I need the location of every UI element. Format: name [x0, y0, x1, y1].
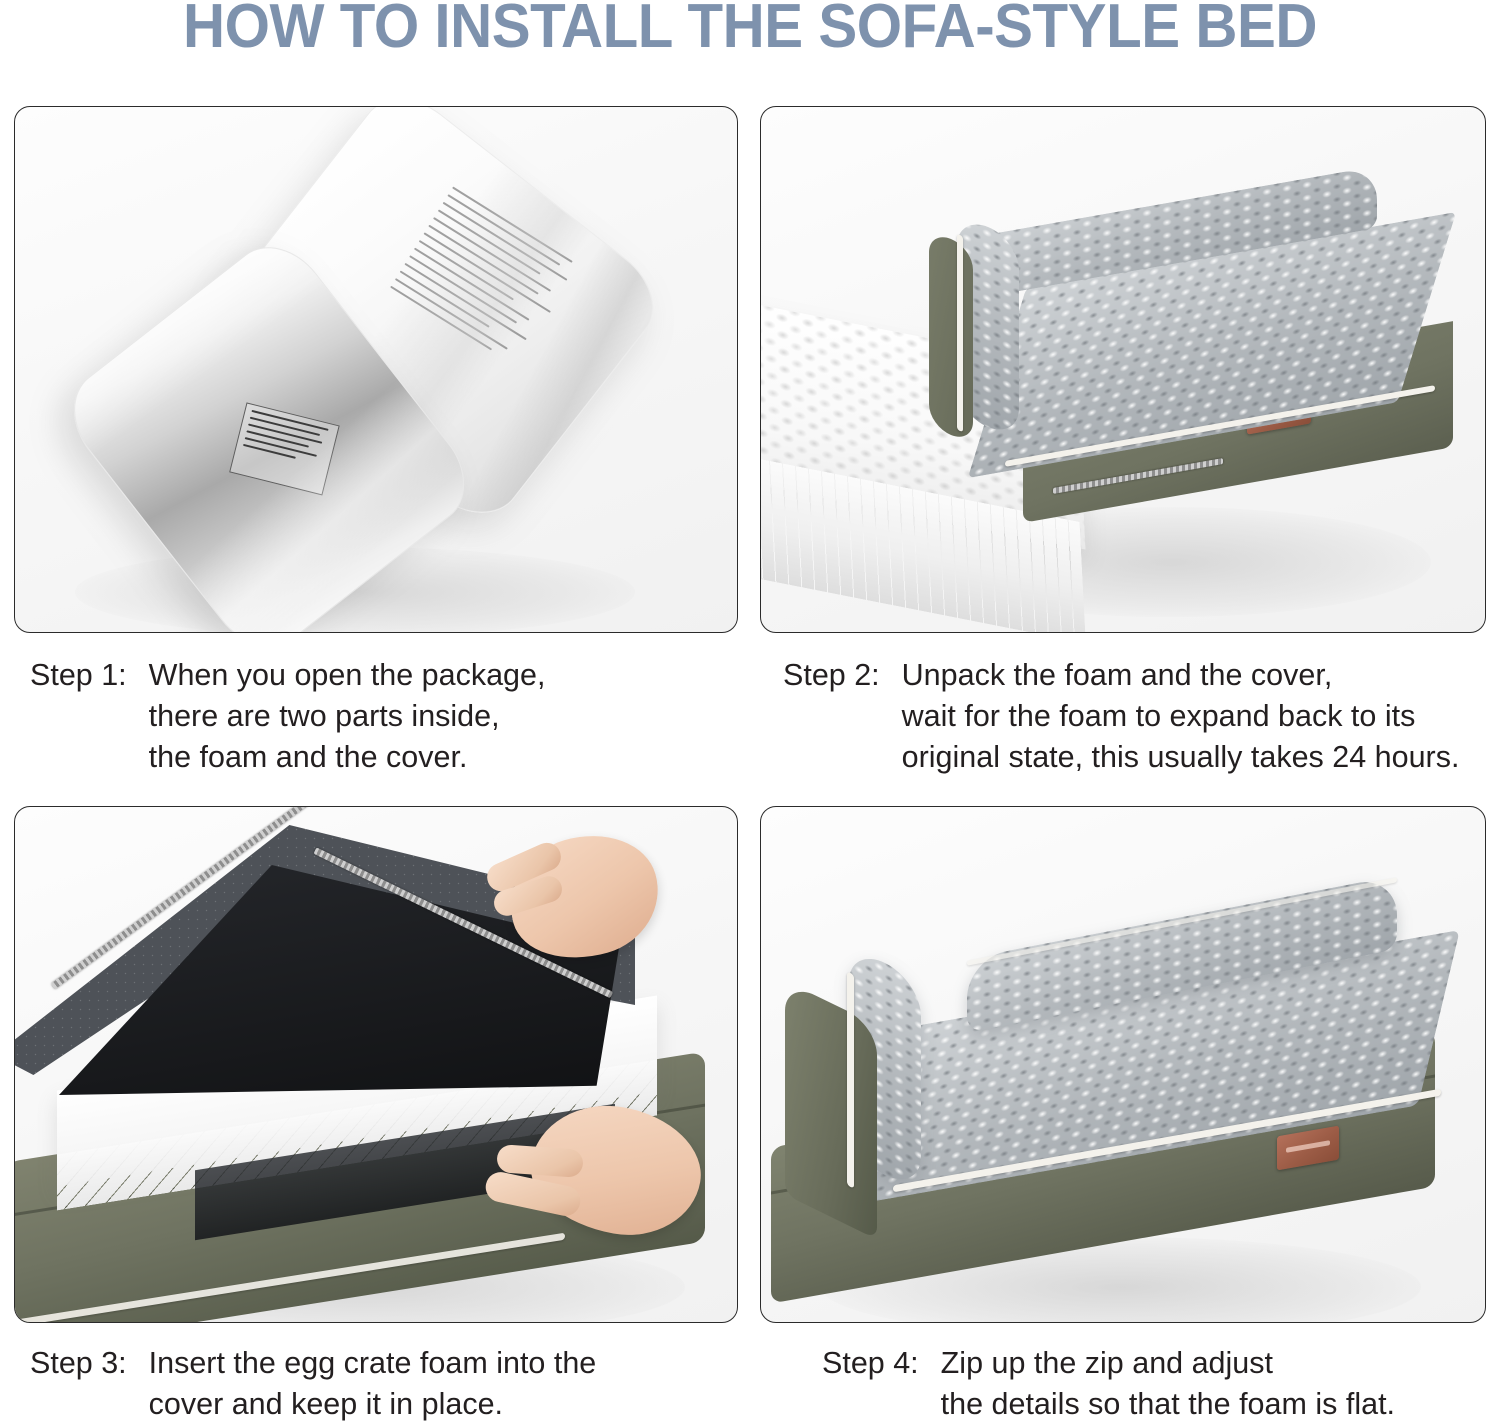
step-1-text: When you open the package, there are two…: [149, 655, 546, 778]
panel-frame: [14, 806, 738, 1323]
step-1-image-panel: [14, 106, 738, 633]
step-2-label: Step 2:: [783, 655, 902, 696]
step-4-image-panel: [760, 806, 1486, 1323]
step-4-label: Step 4:: [822, 1343, 941, 1384]
step-2-caption: Step 2: Unpack the foam and the cover, w…: [783, 655, 1459, 778]
panel-frame: [760, 806, 1486, 1323]
step-3-caption: Step 3: Insert the egg crate foam into t…: [30, 1343, 596, 1425]
step-1-label: Step 1:: [30, 655, 149, 696]
step-3-image-panel: [14, 806, 738, 1323]
step-2-image-panel: [760, 106, 1486, 633]
unpacked-parts-illustration: [761, 107, 1485, 632]
panel-frame: [14, 106, 738, 633]
step-2-text: Unpack the foam and the cover, wait for …: [902, 655, 1460, 778]
step-4-caption: Step 4: Zip up the zip and adjust the de…: [822, 1343, 1395, 1425]
piping-side-arm: [847, 971, 854, 1188]
step-3-text: Insert the egg crate foam into the cover…: [149, 1343, 597, 1425]
panel-frame: [760, 106, 1486, 633]
step-3-label: Step 3:: [30, 1343, 149, 1384]
cover-side-wall-olive: [929, 230, 973, 444]
step-4-text: Zip up the zip and adjust the details so…: [941, 1343, 1395, 1425]
insert-foam-illustration: [15, 807, 737, 1322]
packaging-illustration: [15, 107, 737, 632]
hand-lower-finger-2: [496, 1144, 584, 1178]
piping-side: [957, 234, 963, 432]
warning-label: [229, 402, 340, 495]
finished-bed-illustration: [761, 807, 1485, 1322]
step-1-caption: Step 1: When you open the package, there…: [30, 655, 545, 778]
